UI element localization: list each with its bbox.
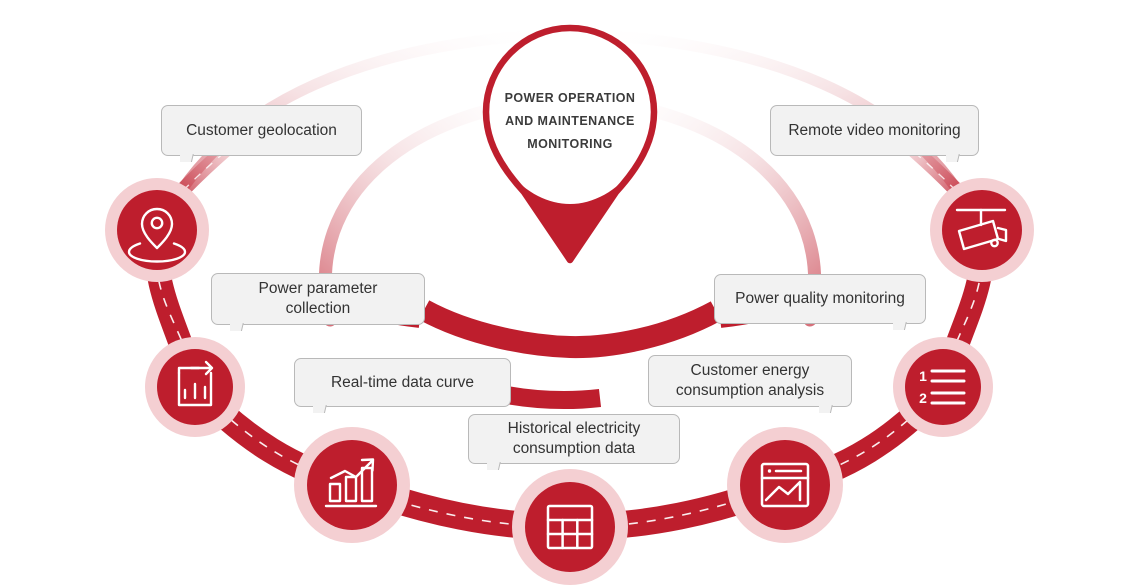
label-remote-video-monitoring[interactable]: Remote video monitoring [770,105,979,156]
node-historical-electricity-consumption-data[interactable] [512,469,628,585]
node-real-time-data-curve[interactable] [294,427,410,543]
label-real-time-data-curve-text: Real-time data curve [331,373,474,393]
callout-tail [487,462,501,476]
label-power-quality-monitoring[interactable]: Power quality monitoring [714,274,926,324]
callout-tail [946,154,960,168]
node-power-parameter-collection[interactable] [145,337,245,437]
svg-text:1: 1 [919,368,927,384]
callout-tail [893,322,907,336]
label-line-2: consumption data [508,439,641,459]
node-power-quality-monitoring[interactable]: 1 2 [893,337,993,437]
label-power-quality-monitoring-text: Power quality monitoring [735,289,905,309]
label-customer-geolocation-text: Customer geolocation [186,121,337,141]
node-customer-geolocation[interactable] [105,178,209,282]
label-historical-electricity-consumption-data[interactable]: Historical electricity consumption data [468,414,680,464]
label-line-1: Historical electricity [508,419,641,439]
label-line-2: consumption analysis [676,381,824,401]
label-real-time-data-curve[interactable]: Real-time data curve [294,358,511,407]
node-disc [307,440,397,530]
label-power-parameter-collection-text: Power parameter collection [259,279,378,319]
label-historical-text: Historical electricity consumption data [508,419,641,459]
node-disc [905,349,981,425]
center-map-pin [470,22,670,267]
node-customer-energy-consumption-analysis[interactable] [727,427,843,543]
label-line-1: Customer energy [676,361,824,381]
node-remote-video-monitoring[interactable] [930,178,1034,282]
label-customer-energy-text: Customer energy consumption analysis [676,361,824,401]
node-disc [942,190,1022,270]
callout-tail [230,323,244,337]
label-customer-geolocation[interactable]: Customer geolocation [161,105,362,156]
node-disc [740,440,830,530]
svg-text:2: 2 [919,390,927,406]
diagram-canvas: POWER OPERATION AND MAINTENANCE MONITORI… [0,0,1139,587]
callout-tail [180,154,194,168]
label-remote-video-monitoring-text: Remote video monitoring [788,121,960,141]
label-customer-energy-consumption-analysis[interactable]: Customer energy consumption analysis [648,355,852,407]
label-line-2: collection [259,299,378,319]
node-disc [117,190,197,270]
node-disc [525,482,615,572]
callout-tail [819,405,833,419]
callout-tail [313,405,327,419]
label-power-parameter-collection[interactable]: Power parameter collection [211,273,425,325]
label-line-1: Power parameter [259,279,378,299]
